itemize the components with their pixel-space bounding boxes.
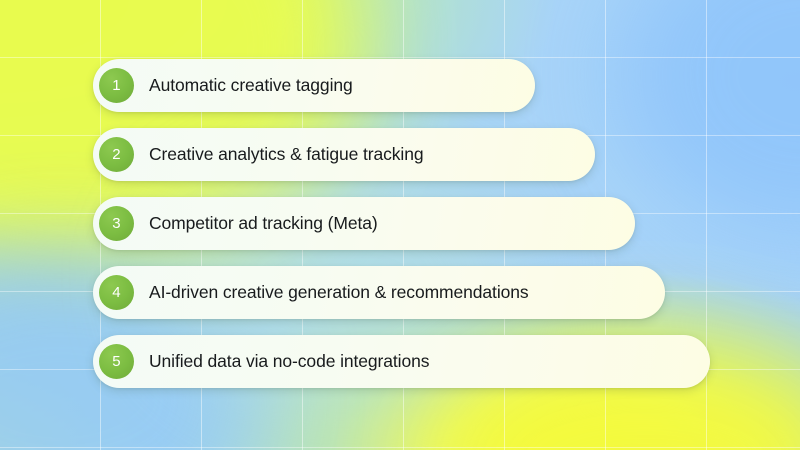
list-item-label: Unified data via no-code integrations bbox=[149, 351, 429, 372]
list-item-number-badge: 1 bbox=[99, 68, 134, 103]
list-item[interactable]: 5Unified data via no-code integrations bbox=[93, 335, 710, 388]
list-item[interactable]: 3Competitor ad tracking (Meta) bbox=[93, 197, 635, 250]
list-item-number-badge: 2 bbox=[99, 137, 134, 172]
list-item-label: Automatic creative tagging bbox=[149, 75, 353, 96]
list-item-number-badge: 5 bbox=[99, 344, 134, 379]
list-item-number-badge: 3 bbox=[99, 206, 134, 241]
list-item[interactable]: 2Creative analytics & fatigue tracking bbox=[93, 128, 595, 181]
list-item-label: AI-driven creative generation & recommen… bbox=[149, 282, 529, 303]
list-item-label: Creative analytics & fatigue tracking bbox=[149, 144, 424, 165]
numbered-feature-list: 1Automatic creative tagging2Creative ana… bbox=[93, 59, 710, 388]
list-item-number-badge: 4 bbox=[99, 275, 134, 310]
list-item[interactable]: 4AI-driven creative generation & recomme… bbox=[93, 266, 665, 319]
list-item-label: Competitor ad tracking (Meta) bbox=[149, 213, 378, 234]
list-item[interactable]: 1Automatic creative tagging bbox=[93, 59, 535, 112]
